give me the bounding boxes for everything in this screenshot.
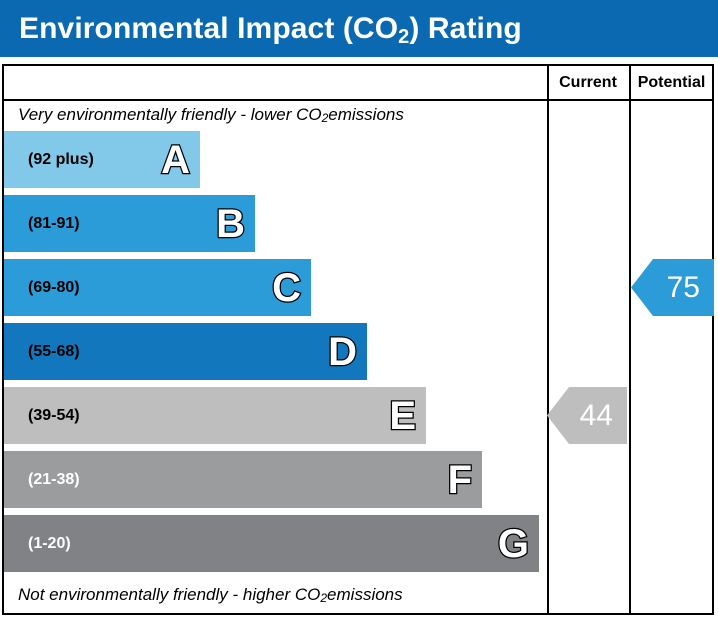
band-letter-d: D	[328, 332, 357, 372]
page-title-subscript: 2	[398, 26, 409, 48]
band-range-b: (81-91)	[4, 215, 80, 233]
band-range-a: (92 plus)	[4, 151, 94, 169]
page-title-main: Environmental Impact (CO	[19, 12, 398, 45]
bottom-caption-suffix: emissions	[327, 585, 403, 605]
potential-column-divider	[629, 66, 631, 613]
page-title: Environmental Impact (CO2) Rating	[0, 14, 522, 44]
band-range-f: (21-38)	[4, 471, 80, 489]
band-letter-a: A	[161, 140, 190, 180]
epc-environmental-impact-chart: Environmental Impact (CO2) Rating Curren…	[0, 0, 718, 619]
top-caption-suffix: emissions	[328, 105, 404, 125]
band-letter-g: G	[498, 524, 529, 564]
ratings-table: Current Potential Very environmentally f…	[2, 64, 714, 615]
chart-header: Environmental Impact (CO2) Rating	[0, 0, 718, 57]
band-range-e: (39-54)	[4, 407, 80, 425]
page-title-suffix: ) Rating	[409, 12, 521, 45]
band-row-a: (92 plus) A	[4, 131, 200, 188]
bottom-caption-text: Not environmentally friendly - higher CO	[18, 585, 320, 605]
current-rating-marker: 44	[547, 387, 627, 444]
column-header-current: Current	[547, 66, 629, 99]
band-letter-c: C	[272, 268, 301, 308]
band-letter-e: E	[389, 396, 416, 436]
bottom-caption-subscript: 2	[320, 591, 327, 605]
band-range-c: (69-80)	[4, 279, 80, 297]
top-caption-text: Very environmentally friendly - lower CO	[18, 105, 322, 125]
band-row-g: (1-20) G	[4, 515, 539, 572]
band-row-c: (69-80) C	[4, 259, 311, 316]
band-row-f: (21-38) F	[4, 451, 482, 508]
band-row-e: (39-54) E	[4, 387, 426, 444]
band-row-d: (55-68) D	[4, 323, 367, 380]
band-letter-b: B	[216, 204, 245, 244]
potential-rating-value: 75	[667, 271, 700, 305]
current-rating-value: 44	[580, 399, 613, 433]
current-column-divider	[547, 66, 549, 613]
top-caption: Very environmentally friendly - lower CO…	[4, 99, 547, 131]
band-range-g: (1-20)	[4, 535, 71, 553]
potential-rating-marker: 75	[631, 259, 714, 316]
band-range-d: (55-68)	[4, 343, 80, 361]
bottom-caption: Not environmentally friendly - higher CO…	[4, 579, 547, 611]
top-caption-subscript: 2	[322, 111, 329, 125]
band-letter-f: F	[448, 460, 472, 500]
band-row-b: (81-91) B	[4, 195, 255, 252]
column-header-potential: Potential	[629, 66, 714, 99]
